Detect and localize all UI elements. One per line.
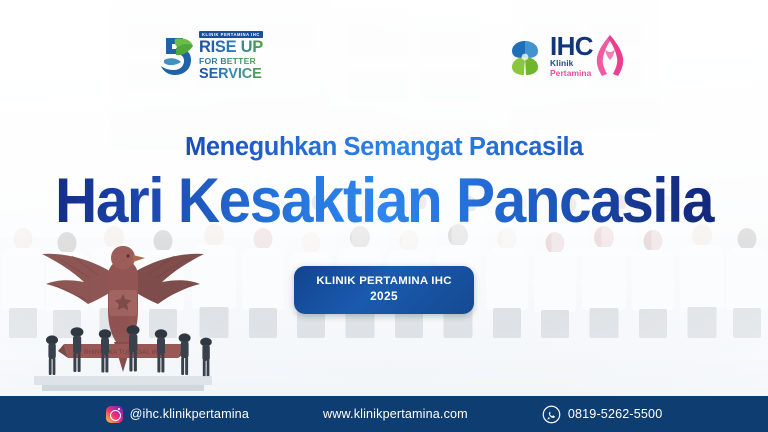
pink-awareness-ribbon-icon [592, 31, 628, 81]
ihc-leaf-mark-icon [505, 37, 547, 77]
rise-up-line2: FOR BETTER [199, 57, 263, 66]
status-badge: KLINIK PERTAMINA IHC 2025 [294, 266, 474, 314]
website-contact[interactable]: www.klinikpertamina.com [323, 407, 468, 421]
rise-up-kicker: KLINIK PERTAMINA IHC [199, 31, 263, 39]
subtitle: Meneguhkan Semangat Pancasila [0, 133, 768, 162]
rise-up-line1: RISE UP [199, 39, 263, 56]
rise-up-line3: SERVICE [199, 67, 263, 82]
svg-text:BHINNEKA TUNGGAL IKA: BHINNEKA TUNGGAL IKA [84, 349, 163, 356]
ihc-sub-pertamina: Pertamina [550, 69, 593, 79]
page-title: Hari Kesaktian Pancasila [27, 170, 741, 233]
ihc-wordmark: IHC [550, 35, 593, 59]
poster-canvas: BHINNEKA TUNGGAL IKA [0, 0, 768, 432]
instagram-contact[interactable]: @ihc.klinikpertamina [106, 406, 249, 423]
contact-footer: @ihc.klinikpertamina www.klinikpertamina… [0, 396, 768, 432]
rise-up-logo: KLINIK PERTAMINA IHC RISE UP FOR BETTER … [160, 28, 280, 84]
instagram-handle: @ihc.klinikpertamina [130, 407, 249, 421]
badge-line-1: KLINIK PERTAMINA IHC [304, 274, 464, 289]
whatsapp-phone: 0819-5262-5500 [568, 407, 663, 421]
instagram-icon [106, 406, 123, 423]
badge-line-2: 2025 [304, 289, 464, 304]
website-url: www.klinikpertamina.com [323, 407, 468, 421]
whatsapp-icon [542, 405, 561, 424]
whatsapp-contact[interactable]: 0819-5262-5500 [542, 405, 663, 424]
monumen-pancasila-sakti: BHINNEKA TUNGGAL IKA [28, 238, 218, 393]
ihc-klinik-pertamina-logo: IHC Klinik Pertamina [505, 28, 635, 86]
leaf-swoosh-icon [160, 34, 194, 78]
